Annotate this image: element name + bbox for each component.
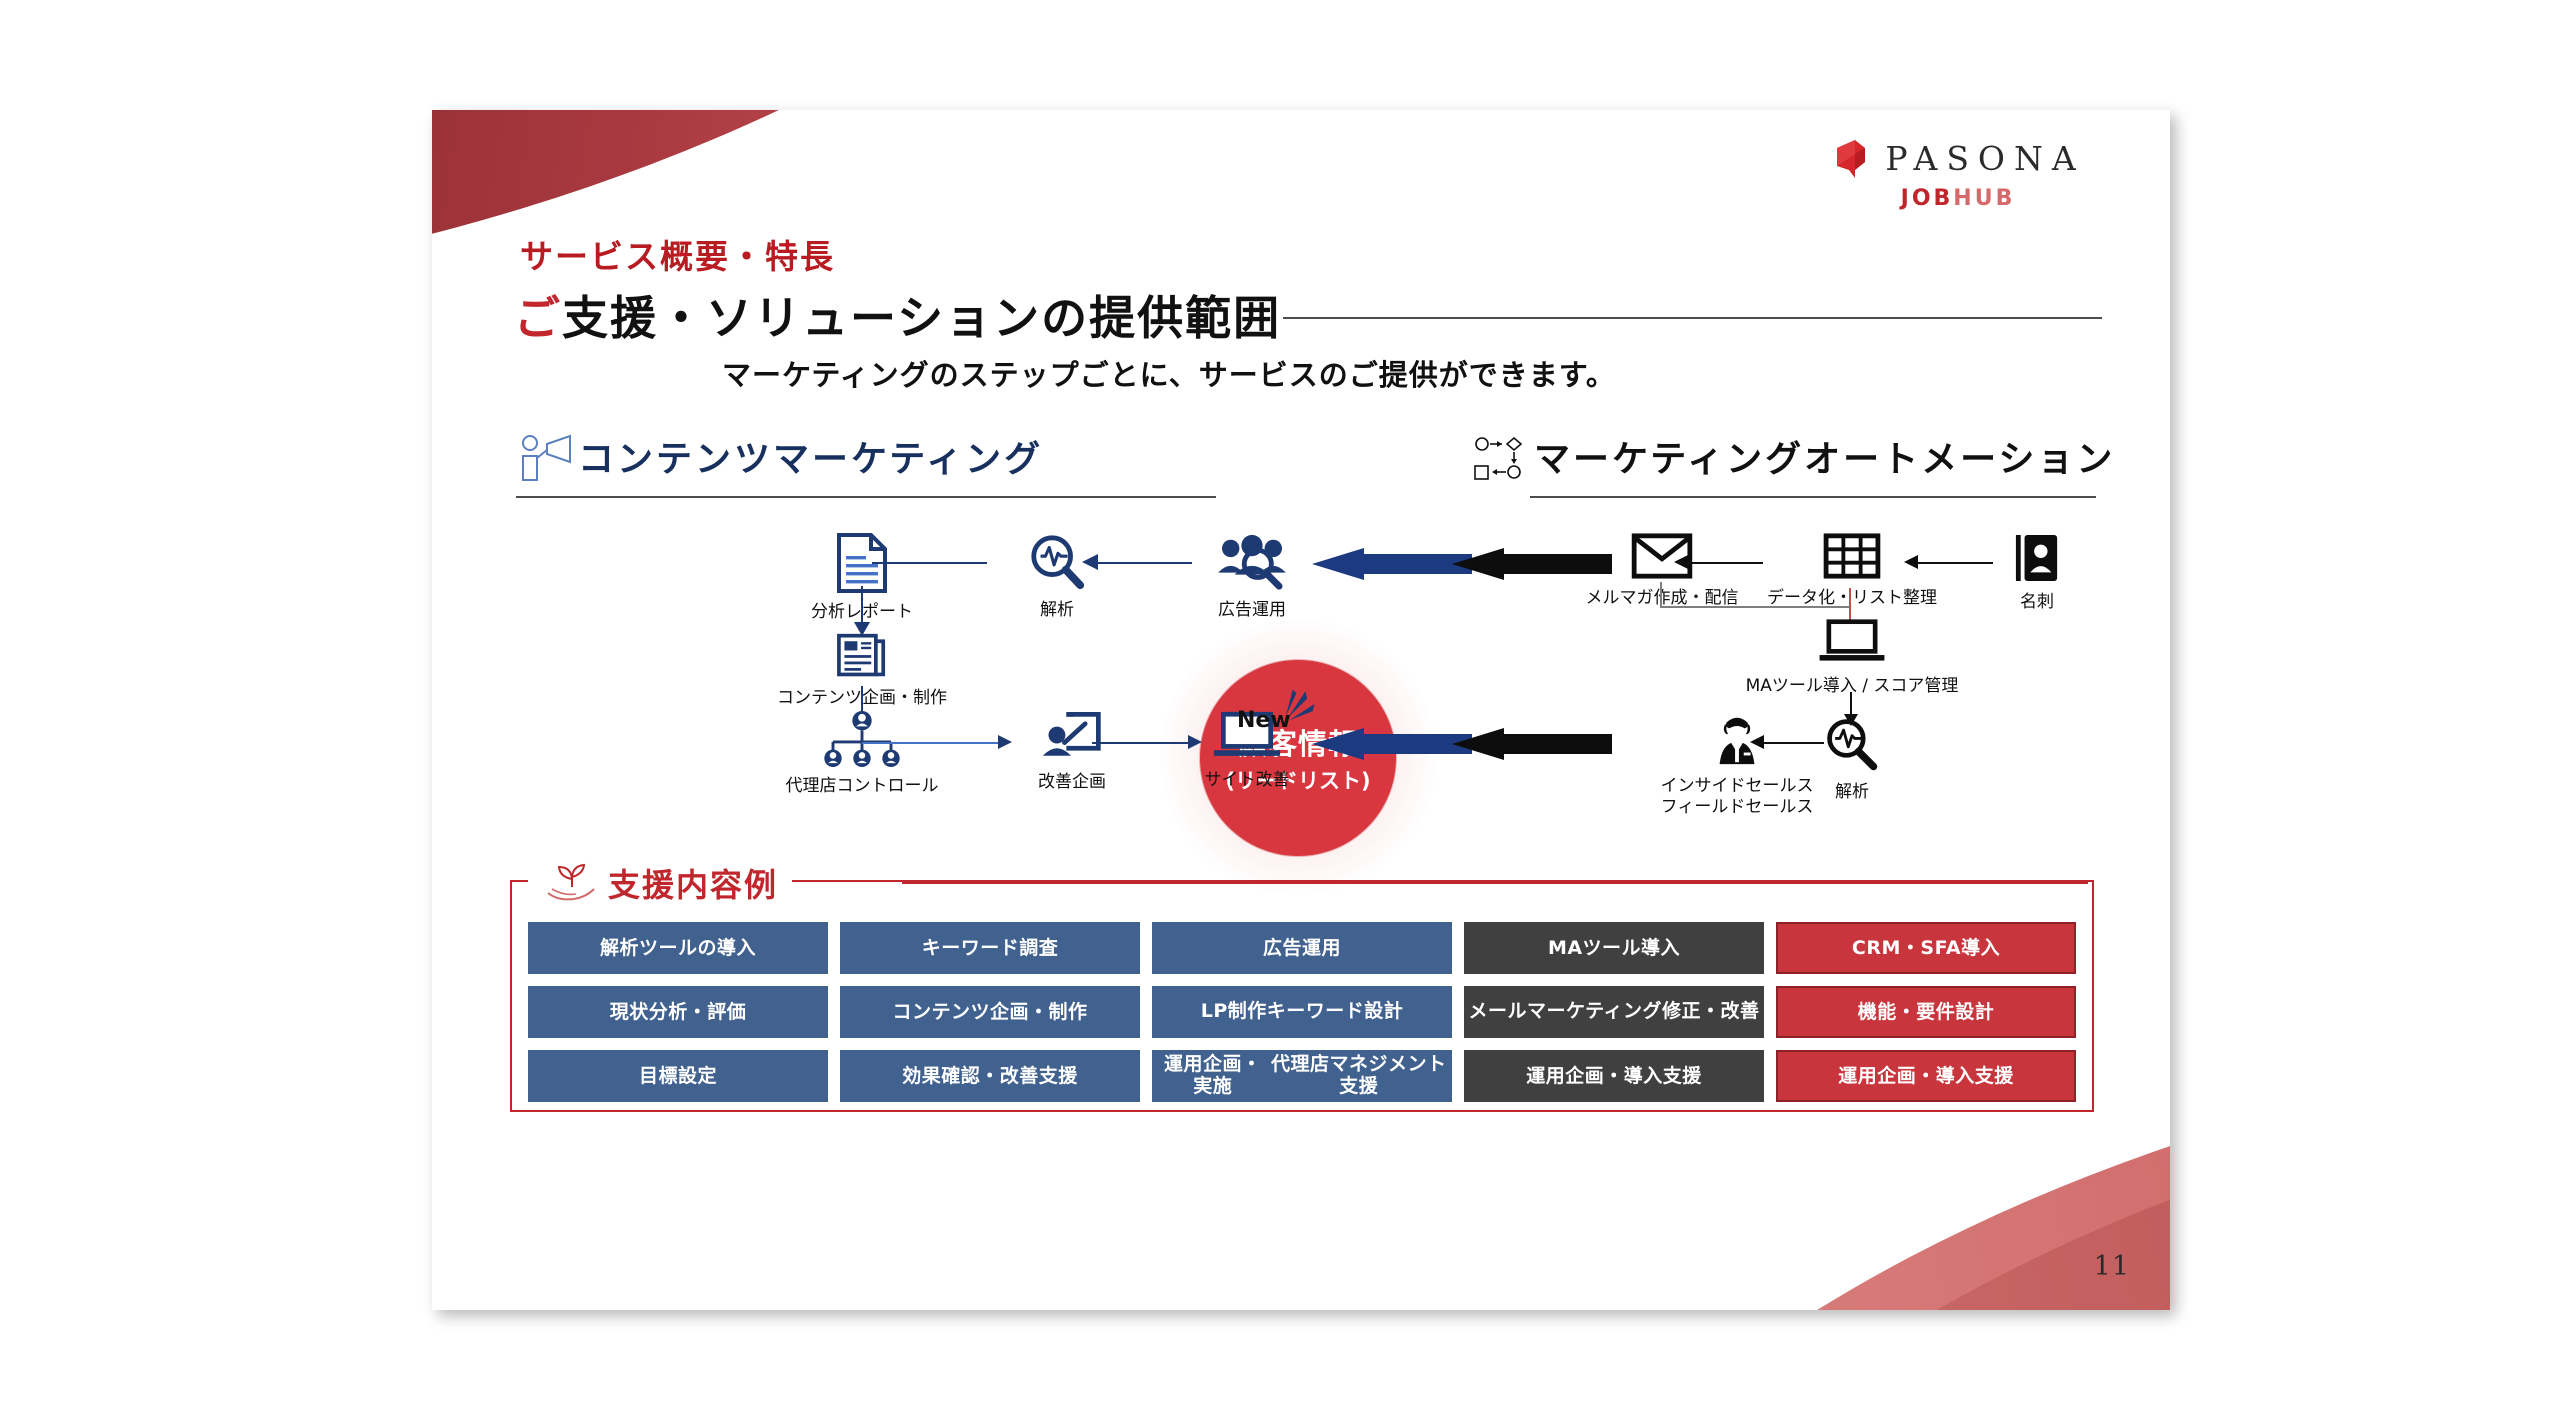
megaphone-person-icon [516,432,578,484]
node-label: メルマガ作成・配信 [1586,588,1739,608]
node-mail-magazine: メルマガ作成・配信 [1567,532,1757,609]
magnifier-waveform-icon [1802,716,1902,778]
support-cell: 目標設定 [528,1050,828,1102]
logo-job-text: JOB [1901,186,1954,211]
decoration-band-dark [432,110,1383,309]
slide-kicker: サービス概要・特長 [520,230,835,278]
page-number: 11 [2094,1251,2130,1282]
support-title-group: 支援内容例 [528,862,792,904]
slide-canvas: 11 PASONA JOBHUB サービス概要・特長 ご支援・ソリューションの提… [432,110,2170,1310]
support-grid: 解析ツールの導入キーワード調査広告運用MAツール導入CRM・SFA導入現状分析・… [528,922,2076,1102]
node-label-2: フィールドセールス [1661,797,1814,817]
node-agency-control: 代理店コントロール [772,710,952,797]
section-marketing-automation: マーケティングオートメーション [1472,430,2092,484]
support-title-label: 支援内容例 [608,860,778,906]
section-left-underline [516,496,1216,498]
presentation-person-icon [1002,708,1142,768]
connector-analysis-ads [1097,562,1192,564]
arrowhead-left-4 [1750,735,1764,749]
node-label: 広告運用 [1218,600,1286,620]
big-arrow-bottom-black [1452,728,1612,760]
node-label: 解析 [1835,782,1869,802]
support-cell: 運用企画・実施代理店マネジメント支援 [1152,1050,1452,1102]
support-cell: 解析ツールの導入 [528,922,828,974]
support-cell: MAツール導入 [1464,922,1764,974]
page-title-red: ご [514,291,562,345]
support-cell: キーワード調査 [840,922,1140,974]
sprout-hand-icon [542,863,602,903]
support-cell: LP制作キーワード設計 [1152,986,1452,1038]
connector-card-table [1917,562,1993,564]
pasona-jobhub-logo: PASONA JOBHUB [1808,136,2108,211]
support-cell: コンテンツ企画・制作 [840,986,1140,1038]
node-label: 代理店コントロール [786,776,939,796]
page-title-row: ご支援・ソリューションの提供範囲 [514,282,2102,348]
connector-report-content [861,586,863,624]
big-arrow-top-left [1312,548,1472,580]
envelope-icon [1567,532,1757,584]
flowchart-icon [1472,432,1534,484]
arrowhead-left-3 [1674,555,1688,569]
connector-ma-analysis [1850,692,1852,716]
big-arrow-bottom-left [1312,728,1472,760]
node-analysis-left: 解析 [992,532,1122,621]
section-right-underline [1530,496,2096,498]
business-card-icon [1977,532,2097,588]
support-cell: メールマーケティング修正・改善 [1464,986,1764,1038]
logo-hub-text: HUB [1953,186,2015,211]
arrowhead-right [998,735,1012,749]
node-label: 改善企画 [1038,772,1106,792]
org-chart-icon [772,710,952,772]
connector-mail-down [1660,582,1662,606]
table-grid-icon [1752,532,1952,584]
page-title: ご支援・ソリューションの提供範囲 [514,282,1281,348]
node-ma-tool: MAツール導入 / スコア管理 [1732,618,1972,697]
magnifier-waveform-icon [992,532,1122,596]
node-label: 名刺 [2020,592,2054,612]
arrowhead-left [1082,554,1098,570]
section-left-label: コンテンツマーケティング [578,430,1043,484]
connector-report-analysis [872,562,987,564]
section-content-marketing: コンテンツマーケティング [516,430,1216,484]
service-flow-diagram: 顧客情報 (リードリスト) 分析レポート 解析 [432,510,2170,860]
page-title-rest: 支援・ソリューションの提供範囲 [562,291,1281,345]
logo-brand-text: PASONA [1885,139,2084,178]
node-label: サイト改善 [1205,770,1290,790]
support-cell: 現状分析・評価 [528,986,828,1038]
support-cell: 運用企画・導入支援 [1464,1050,1764,1102]
support-title-rule [902,882,2088,884]
node-ad-operations: 広告運用 [1172,532,1332,621]
support-cell: 効果確認・改善支援 [840,1050,1140,1102]
node-label: MAツール導入 / スコア管理 [1746,676,1959,696]
logo-subbrand: JOBHUB [1808,186,2108,211]
arrowhead-left-2 [1904,555,1918,569]
new-badge-label: New [1237,708,1291,733]
node-analysis-right: 解析 [1802,716,1902,803]
page-subtitle: マーケティングのステップごとに、サービスのご提供ができます。 [722,352,1616,394]
connector-mail-across [1660,606,1850,608]
node-data-list: データ化・リスト整理 [1752,532,1952,609]
node-label: インサイドセールス [1661,776,1814,796]
node-label: 解析 [1040,600,1074,620]
connector-agency-improve [862,742,1002,744]
newspaper-icon [777,632,947,684]
pasona-mark-icon [1831,136,1871,180]
support-cell: 運用企画・導入支援 [1776,1050,2076,1102]
support-cell: 広告運用 [1152,922,1452,974]
connector-improve-site [1092,742,1192,744]
connector-table-mail [1687,562,1763,564]
support-cell: CRM・SFA導入 [1776,922,2076,974]
title-rule [1283,317,2102,319]
connector-analysis-sales [1762,742,1824,744]
support-cell: 機能・要件設計 [1776,986,2076,1038]
people-magnifier-icon [1172,532,1332,596]
node-label: データ化・リスト整理 [1767,588,1937,608]
node-improvement-plan: 改善企画 [1002,708,1142,793]
node-business-card: 名刺 [1977,532,2097,613]
section-right-label: マーケティングオートメーション [1534,430,2115,484]
arrowhead-right-2 [1188,735,1202,749]
laptop-icon [1732,618,1972,672]
